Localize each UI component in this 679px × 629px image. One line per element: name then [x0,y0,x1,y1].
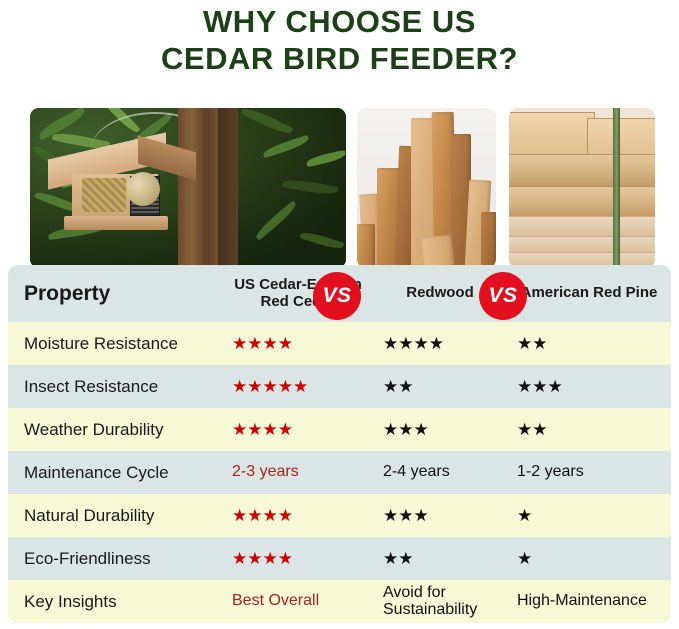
header-red-pine: American Red Pine [507,285,671,302]
cell-redwood: ★★★ [373,507,507,524]
cell-us-cedar: 2-3 years [223,464,373,481]
title-line-2: CEDAR BIRD FEEDER? [0,41,679,78]
vs-badge-1: VS [313,272,361,320]
cell-red-pine: 1-2 years [507,464,671,481]
redwood-firewood-photo [357,108,496,268]
row-property-label: Eco-Friendliness [8,549,223,569]
cell-us-cedar: Best Overall [223,593,373,610]
table-row: Eco-Friendliness ★★★★ ★★ ★ [8,537,671,580]
cell-redwood: ★★ [373,550,507,567]
cell-us-cedar: ★★★★ [223,421,373,438]
cell-us-cedar: ★★★★ [223,335,373,352]
table-row: Key Insights Best Overall Avoid for Sust… [8,580,671,623]
cell-us-cedar: ★★★★ [223,550,373,567]
infographic-page: WHY CHOOSE US CEDAR BIRD FEEDER? [0,0,679,629]
cell-red-pine: ★ [507,507,671,524]
cell-redwood: ★★★ [373,421,507,438]
row-property-label: Moisture Resistance [8,334,223,354]
row-property-label: Key Insights [8,592,223,612]
table-row: Moisture Resistance ★★★★ ★★★★ ★★ [8,322,671,365]
cell-us-cedar: ★★★★ [223,507,373,524]
row-property-label: Natural Durability [8,506,223,526]
table-row: Natural Durability ★★★★ ★★★ ★ [8,494,671,537]
cell-redwood: Avoid for Sustainability [373,585,507,619]
row-property-label: Maintenance Cycle [8,463,223,483]
cell-redwood: ★★ [373,378,507,395]
cell-redwood: ★★★★ [373,335,507,352]
table-row: Insect Resistance ★★★★★ ★★ ★★★ [8,365,671,408]
table-row: Weather Durability ★★★★ ★★★ ★★ [8,408,671,451]
table-row: Maintenance Cycle 2-3 years 2-4 years 1-… [8,451,671,494]
page-title: WHY CHOOSE US CEDAR BIRD FEEDER? [0,4,679,77]
cell-red-pine: ★ [507,550,671,567]
cedar-bird-feeder-photo [30,108,346,268]
title-line-1: WHY CHOOSE US [0,4,679,41]
row-property-label: Weather Durability [8,420,223,440]
cell-red-pine: High-Maintenance [507,593,671,610]
vs-badge-2: VS [479,272,527,320]
american-red-pine-lumber-photo [509,108,655,268]
cell-red-pine: ★★ [507,335,671,352]
header-property: Property [8,282,223,306]
cell-redwood: 2-4 years [373,464,507,481]
cell-red-pine: ★★★ [507,378,671,395]
row-property-label: Insect Resistance [8,377,223,397]
photo-strip: VS VS [0,108,679,268]
cell-us-cedar: ★★★★★ [223,378,373,395]
cell-red-pine: ★★ [507,421,671,438]
